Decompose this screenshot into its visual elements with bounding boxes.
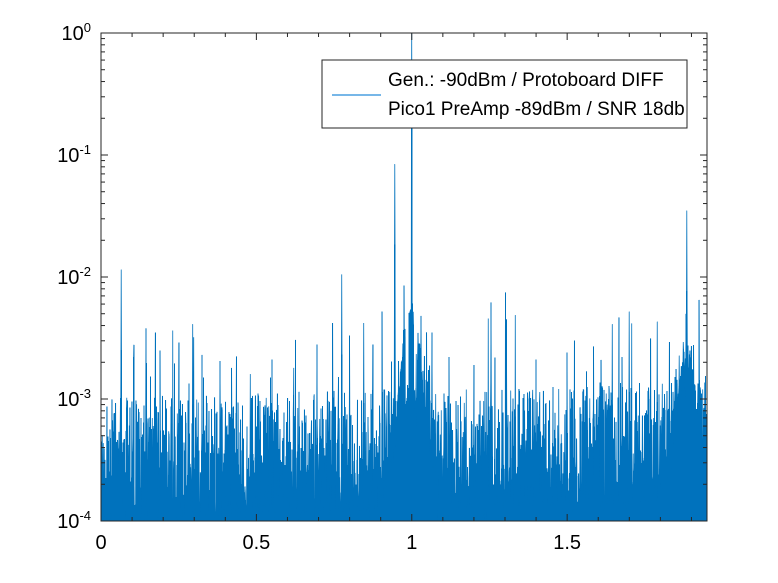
y-tick-label: 10-3	[57, 386, 91, 411]
y-tick-label: 10-2	[57, 264, 91, 289]
y-tick-label: 100	[62, 20, 91, 45]
legend[interactable]: Gen.: -90dBm / Protoboard DIFF Pico1 Pre…	[322, 60, 687, 128]
x-tick-label: 1.5	[553, 532, 581, 554]
spectrum-plot[interactable]: 00.511.5 10-410-310-210-1100 Gen.: -90dB…	[0, 0, 778, 583]
x-tick-label: 0	[95, 532, 106, 554]
y-tick-label: 10-4	[57, 508, 91, 533]
figure-canvas: 00.511.5 10-410-310-210-1100 Gen.: -90dB…	[0, 0, 778, 583]
y-tick-label: 10-1	[57, 142, 91, 167]
x-axis-tick-labels: 00.511.5	[95, 532, 581, 554]
x-tick-label: 1	[406, 532, 417, 554]
legend-label-line2: Pico1 PreAmp -89dBm / SNR 18db	[388, 99, 685, 120]
x-tick-label: 0.5	[242, 532, 270, 554]
legend-label-line1: Gen.: -90dBm / Protoboard DIFF	[388, 70, 664, 91]
y-axis-tick-labels: 10-410-310-210-1100	[57, 20, 91, 533]
